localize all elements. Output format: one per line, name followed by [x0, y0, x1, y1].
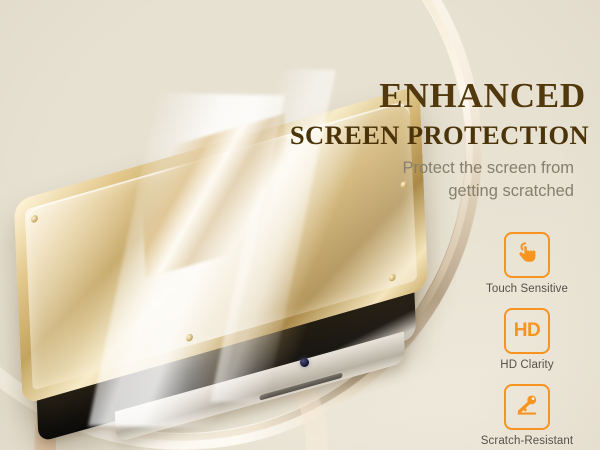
feature-icon-box [504, 232, 550, 278]
feature-label: Touch Sensitive [486, 283, 568, 295]
feature-icon-box [504, 384, 550, 430]
feature-list: Touch Sensitive HD HD Clarity [462, 232, 592, 450]
feature-icon-box: HD [504, 308, 550, 354]
feature-item-touch-sensitive: Touch Sensitive [462, 232, 592, 295]
promo-banner: ENHANCED SCREEN PROTECTION Protect the s… [0, 0, 600, 450]
description-text: Protect the screen from getting scratche… [254, 157, 574, 203]
description-line-1: Protect the screen from [403, 159, 575, 177]
feature-item-scratch-resistant: Scratch-Resistant [462, 384, 592, 447]
description-line-2: getting scratched [448, 182, 574, 200]
feature-label: HD Clarity [500, 359, 553, 371]
hd-badge-icon: HD [514, 320, 540, 342]
phone-camera-lens [300, 358, 309, 367]
page-title: ENHANCED [379, 78, 586, 113]
key-scratch-icon [514, 392, 540, 423]
feature-label: Scratch-Resistant [481, 435, 573, 447]
page-subtitle: SCREEN PROTECTION [290, 122, 589, 149]
touch-hand-icon [514, 240, 540, 271]
feature-item-hd-clarity: HD HD Clarity [462, 308, 592, 371]
